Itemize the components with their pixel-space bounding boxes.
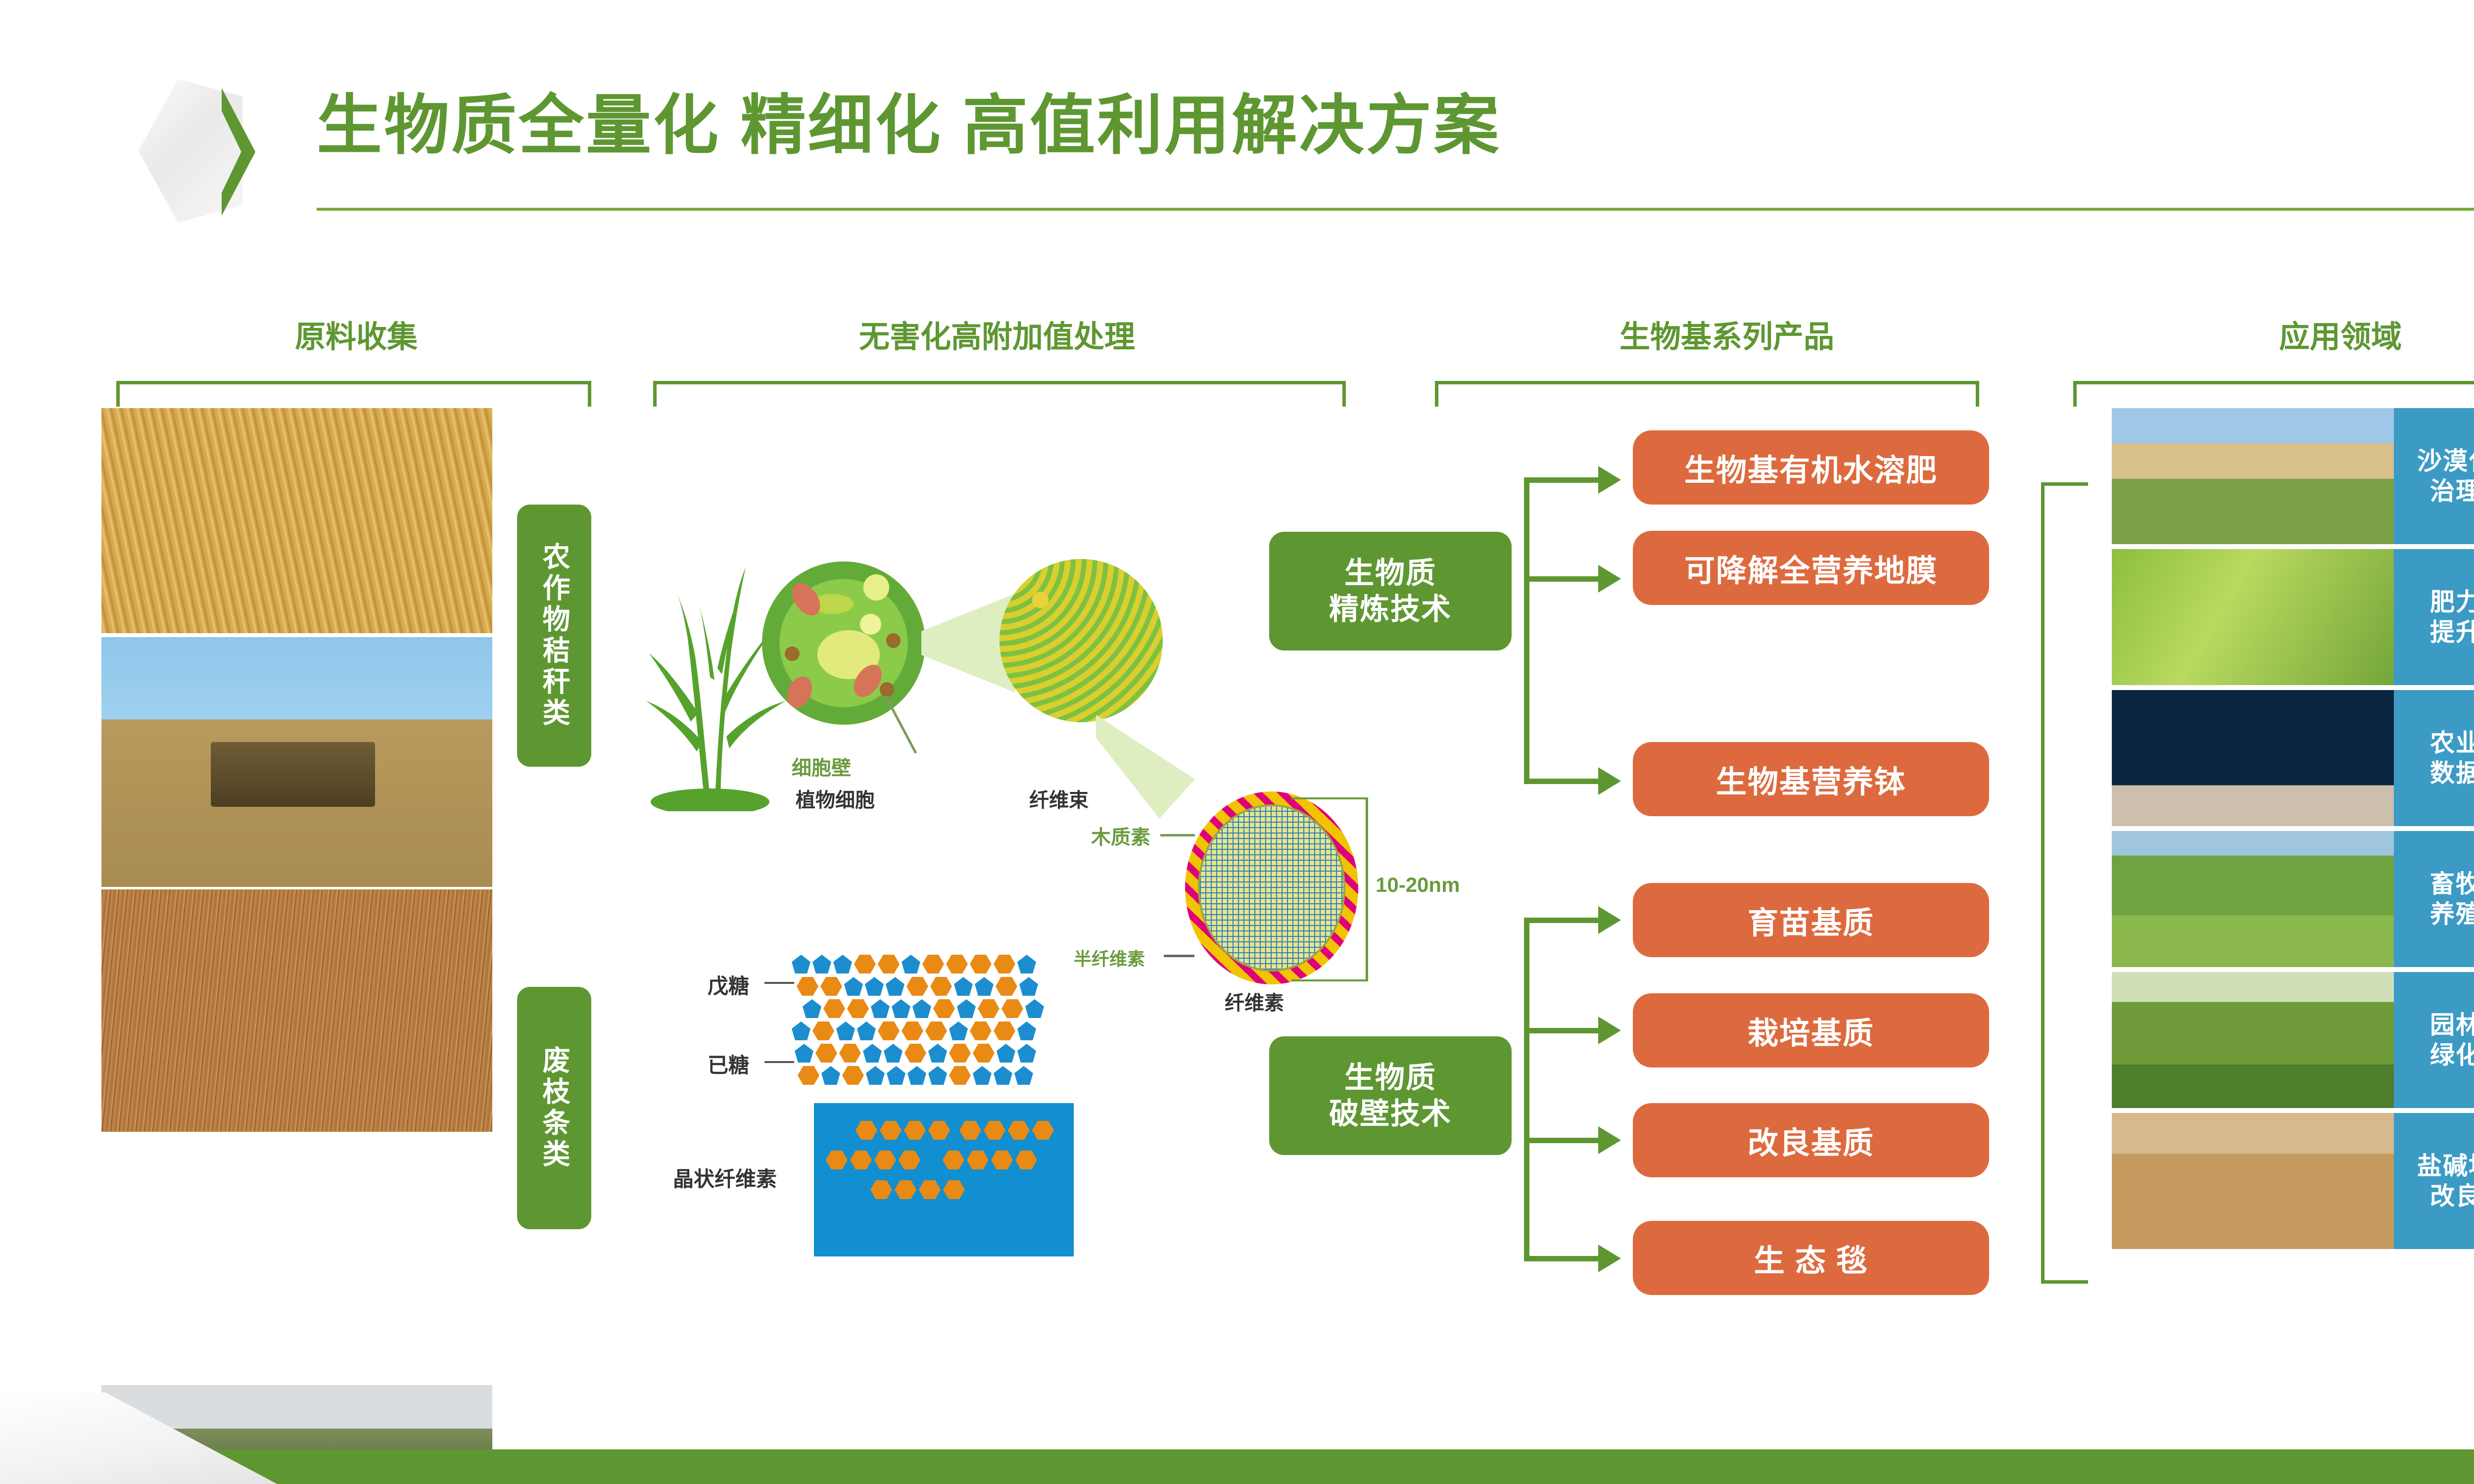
bracket-products bbox=[1435, 381, 1979, 407]
label-cellulose: 纤维素 bbox=[1225, 987, 1284, 1016]
column-heading-products: 生物基系列产品 bbox=[1430, 312, 2024, 356]
product-pill-water-soluble-fertilizer[interactable]: 生物基有机水溶肥 bbox=[1633, 430, 1989, 505]
dimension-tick-bottom bbox=[1291, 979, 1368, 981]
app-saline-line2: 改良 bbox=[2430, 1181, 2474, 1211]
label-pentose: 戊糖 bbox=[708, 970, 749, 1000]
arrow-refining-1 bbox=[1598, 466, 1621, 494]
app-data-line2: 数据 bbox=[2430, 758, 2474, 788]
photo-dry-branches bbox=[101, 889, 492, 1132]
label-plant-cell: 植物细胞 bbox=[796, 784, 875, 813]
tech-wallbreak-line2: 破壁技术 bbox=[1329, 1096, 1452, 1132]
application-row-livestock[interactable]: 畜牧 养殖 bbox=[2112, 831, 2474, 967]
tech-refining-line2: 精炼技术 bbox=[1329, 591, 1452, 627]
connector-branch-refining-2 bbox=[1524, 576, 1601, 582]
product-pill-seedling-substrate[interactable]: 育苗基质 bbox=[1633, 883, 1989, 957]
photo-data-control-room bbox=[2112, 690, 2394, 826]
label-dimension: 10-20nm bbox=[1376, 873, 1460, 897]
tech-pill-refining[interactable]: 生物质 精炼技术 bbox=[1269, 532, 1512, 650]
app-label-agri-data: 农业 数据 bbox=[2394, 690, 2474, 826]
column-heading-raw: 原料收集 bbox=[158, 312, 554, 356]
title-underline-rule bbox=[317, 208, 2474, 211]
photo-landscaped-park bbox=[2112, 972, 2394, 1108]
product-pill-cultivation-substrate[interactable]: 栽培基质 bbox=[1633, 993, 1989, 1067]
product-pill-nutrient-pot[interactable]: 生物基营养钵 bbox=[1633, 742, 1989, 816]
label-hemicellulose: 半纤维素 bbox=[1074, 945, 1145, 971]
app-desert-line1: 沙漠化 bbox=[2417, 446, 2474, 476]
label-cell-wall: 细胞壁 bbox=[792, 752, 851, 781]
connector-branch-wallbreak-1 bbox=[1524, 918, 1601, 923]
label-crystalline-cellulose: 晶状纤维素 bbox=[673, 1162, 777, 1193]
photo-corn-stalk-field bbox=[101, 408, 492, 633]
tech-wallbreak-line1: 生物质 bbox=[1344, 1060, 1436, 1096]
connector-trunk-wallbreak bbox=[1524, 918, 1529, 1261]
photo-sheep-grazing bbox=[2112, 831, 2394, 967]
cellulose-core bbox=[1198, 804, 1345, 972]
plant-cell-illustration bbox=[762, 561, 925, 725]
column-heading-apps: 应用领域 bbox=[2142, 312, 2474, 356]
column-heading-process: 无害化高附加值处理 bbox=[618, 312, 1376, 356]
product-pill-improvement-substrate[interactable]: 改良基质 bbox=[1633, 1103, 1989, 1177]
application-row-landscaping[interactable]: 园林 绿化 bbox=[2112, 972, 2474, 1108]
app-landscape-line1: 园林 bbox=[2430, 1010, 2474, 1040]
crystalline-cellulose-diagram bbox=[814, 1103, 1074, 1256]
footer-green-bar bbox=[0, 1449, 2474, 1484]
tag-waste-branches: 废枝条类 bbox=[517, 987, 591, 1229]
magnify-beam-fiber bbox=[1096, 715, 1195, 819]
fiber-bundle-illustration bbox=[999, 559, 1163, 722]
leader-line-cell-wall bbox=[885, 696, 917, 753]
app-data-line1: 农业 bbox=[2430, 728, 2474, 758]
app-fertility-line1: 肥力 bbox=[2430, 587, 2474, 617]
tech-pill-wallbreaking[interactable]: 生物质 破壁技术 bbox=[1269, 1036, 1512, 1155]
tag-crop-straw: 农作物秸秆类 bbox=[517, 505, 591, 767]
application-row-desertification[interactable]: 沙漠化 治理 bbox=[2112, 408, 2474, 544]
application-row-saline-alkali[interactable]: 盐碱地 改良 bbox=[2112, 1113, 2474, 1249]
connector-branch-wallbreak-4 bbox=[1524, 1256, 1601, 1261]
app-saline-line1: 盐碱地 bbox=[2417, 1151, 2474, 1181]
app-label-desertification: 沙漠化 治理 bbox=[2394, 408, 2474, 544]
sugar-chain-diagram bbox=[792, 955, 1044, 1088]
arrow-wallbreak-4 bbox=[1598, 1245, 1621, 1272]
connector-branch-wallbreak-3 bbox=[1524, 1138, 1601, 1143]
label-lignin: 木质素 bbox=[1091, 821, 1150, 850]
connector-branch-refining-1 bbox=[1524, 477, 1601, 483]
bracket-process bbox=[653, 381, 1346, 407]
product-pill-biodegradable-mulch-film[interactable]: 可降解全营养地膜 bbox=[1633, 531, 1989, 605]
photo-saline-alkali-land bbox=[2112, 1113, 2394, 1249]
arrow-wallbreak-3 bbox=[1598, 1126, 1621, 1154]
arrow-refining-2 bbox=[1598, 565, 1621, 593]
bracket-apps bbox=[2073, 381, 2474, 407]
label-fiber-bundle: 纤维束 bbox=[1029, 784, 1089, 813]
photo-cabbage-field bbox=[2112, 549, 2394, 685]
photo-straw-bale-field bbox=[101, 637, 492, 887]
page-title: 生物质全量化 精细化 高值利用解决方案 bbox=[317, 89, 1501, 162]
connector-branch-wallbreak-2 bbox=[1524, 1028, 1601, 1033]
arrow-refining-3 bbox=[1598, 767, 1621, 795]
app-label-livestock: 畜牧 养殖 bbox=[2394, 831, 2474, 967]
label-hexose: 已糖 bbox=[708, 1049, 749, 1079]
app-label-saline-alkali: 盐碱地 改良 bbox=[2394, 1113, 2474, 1249]
slide-canvas: 生物质全量化 精细化 高值利用解决方案 原料收集 无害化高附加值处理 生物基系列… bbox=[0, 0, 2474, 1484]
application-row-fertility[interactable]: 肥力 提升 bbox=[2112, 549, 2474, 685]
fiber-cross-section-illustration bbox=[1185, 791, 1358, 984]
app-fertility-line2: 提升 bbox=[2430, 617, 2474, 648]
app-desert-line2: 治理 bbox=[2430, 476, 2474, 507]
app-livestock-line1: 畜牧 bbox=[2430, 869, 2474, 899]
app-livestock-line2: 养殖 bbox=[2430, 899, 2474, 929]
app-landscape-line2: 绿化 bbox=[2430, 1040, 2474, 1070]
bracket-raw bbox=[116, 381, 591, 407]
leader-line-hexose bbox=[764, 1061, 794, 1063]
app-label-landscaping: 园林 绿化 bbox=[2394, 972, 2474, 1108]
arrow-wallbreak-1 bbox=[1598, 906, 1621, 934]
leader-line-lignin bbox=[1160, 834, 1195, 836]
connector-trunk-refining bbox=[1524, 477, 1529, 784]
application-row-agri-data[interactable]: 农业 数据 bbox=[2112, 690, 2474, 826]
connector-branch-refining-3 bbox=[1524, 779, 1601, 784]
dimension-bar bbox=[1366, 797, 1368, 981]
bracket-applications-connector bbox=[2041, 482, 2088, 1284]
leader-line-pentose bbox=[764, 982, 794, 984]
photo-desert-control bbox=[2112, 408, 2394, 544]
arrow-wallbreak-2 bbox=[1598, 1017, 1621, 1044]
app-label-fertility: 肥力 提升 bbox=[2394, 549, 2474, 685]
hexagon-logo-badge bbox=[139, 79, 262, 223]
dimension-tick-top bbox=[1291, 797, 1368, 799]
leader-line-hemicellulose bbox=[1164, 955, 1194, 957]
tech-refining-line1: 生物质 bbox=[1344, 555, 1436, 591]
product-pill-ecological-blanket[interactable]: 生 态 毯 bbox=[1633, 1221, 1989, 1295]
